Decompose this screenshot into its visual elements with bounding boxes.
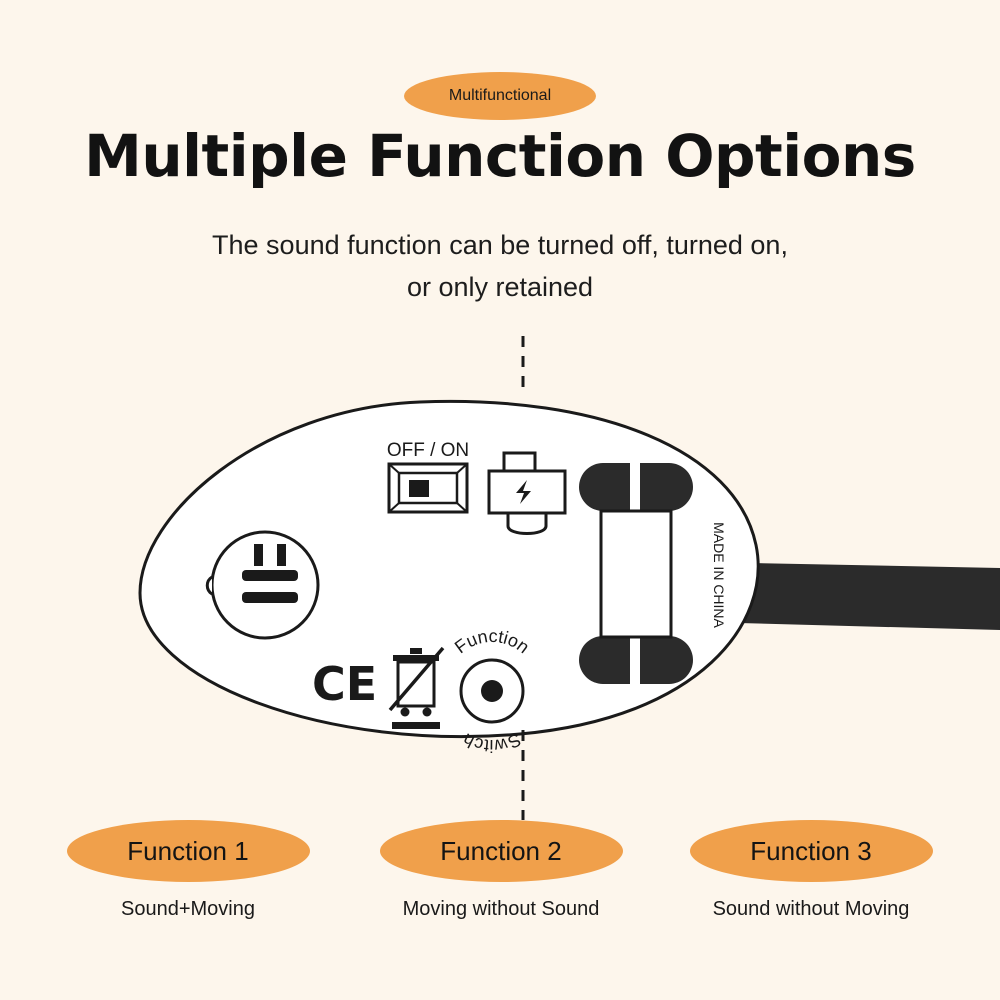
callout-pill-3-label: Function 3 (750, 836, 871, 867)
power-slide-switch[interactable] (389, 464, 467, 512)
callout-function-3: Function 3 Sound without Moving (686, 820, 936, 921)
switch-label: OFF / ON (387, 440, 469, 461)
page-subtitle: The sound function can be turned off, tu… (0, 225, 1000, 309)
callout-pill-2: Function 2 (380, 820, 623, 882)
multifunctional-badge-label: Multifunctional (449, 87, 551, 105)
page-subtitle-line1: The sound function can be turned off, tu… (0, 225, 1000, 267)
multifunctional-badge: Multifunctional (404, 72, 596, 120)
callout-sub-2: Moving without Sound (376, 898, 626, 921)
svg-text:CE: CE (312, 657, 377, 711)
poster-canvas: Multifunctional Multiple Function Option… (0, 0, 1000, 1000)
ce-mark-icon: CE (312, 657, 377, 711)
callout-pill-1-label: Function 1 (127, 836, 248, 867)
callout-sub-3: Sound without Moving (686, 898, 936, 921)
page-title: Multiple Function Options (0, 122, 1000, 190)
callout-function-2: Function 2 Moving without Sound (376, 820, 626, 921)
callout-pill-3: Function 3 (690, 820, 933, 882)
function-callouts: Function 1 Sound+Moving Function 2 Movin… (0, 820, 1000, 1000)
made-in-china-label: MADE IN CHINA (711, 522, 727, 628)
callout-function-1: Function 1 Sound+Moving (63, 820, 313, 921)
device-illustration: OFF / ON (0, 330, 1000, 820)
callout-sub-1: Sound+Moving (63, 898, 313, 921)
callout-pill-1: Function 1 (67, 820, 310, 882)
page-subtitle-line2: or only retained (0, 267, 1000, 309)
callout-pill-2-label: Function 2 (440, 836, 561, 867)
